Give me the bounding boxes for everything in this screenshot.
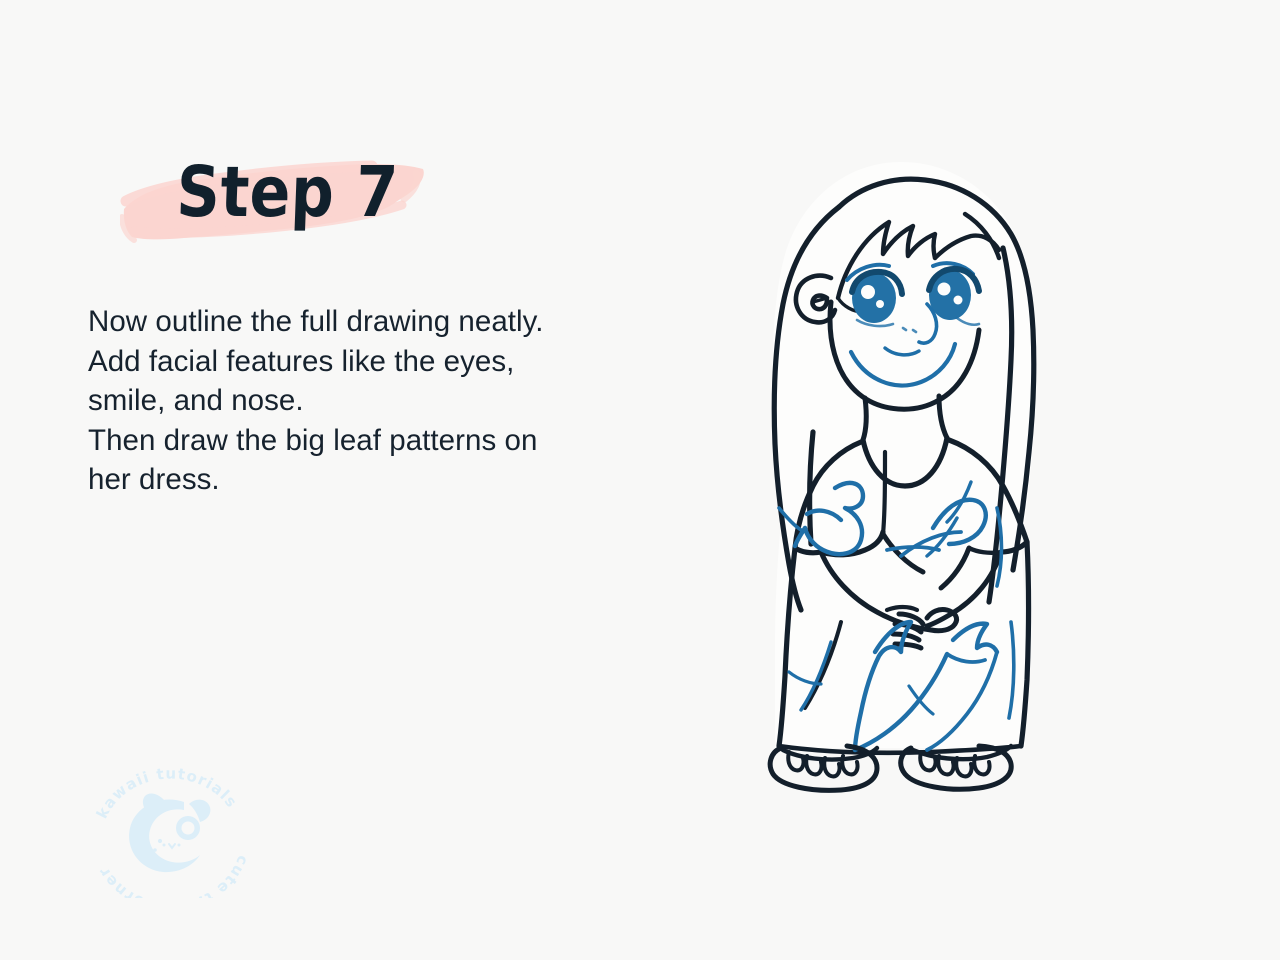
- instruction-line-5: her dress.: [88, 460, 708, 500]
- instruction-line-1: Now outline the full drawing neatly.: [88, 302, 708, 342]
- tutorial-slide: Step 7 Now outline the full drawing neat…: [0, 0, 1280, 960]
- girl-line-drawing: [735, 152, 1065, 812]
- watermark-logo: kawaii tutorials cute thing corner: [83, 768, 258, 898]
- title-block: Step 7: [120, 155, 540, 265]
- c-cat-face-logo-icon: [129, 794, 210, 873]
- watermark-top-text: kawaii tutorials: [93, 768, 241, 821]
- instruction-text: Now outline the full drawing neatly. Add…: [88, 302, 708, 500]
- watermark-bottom-text: cute thing corner: [94, 853, 252, 898]
- instruction-line-4: Then draw the big leaf patterns on: [88, 421, 708, 461]
- instruction-line-3: smile, and nose.: [88, 381, 708, 421]
- page-title: Step 7: [175, 157, 399, 227]
- instruction-line-2: Add facial features like the eyes,: [88, 342, 708, 382]
